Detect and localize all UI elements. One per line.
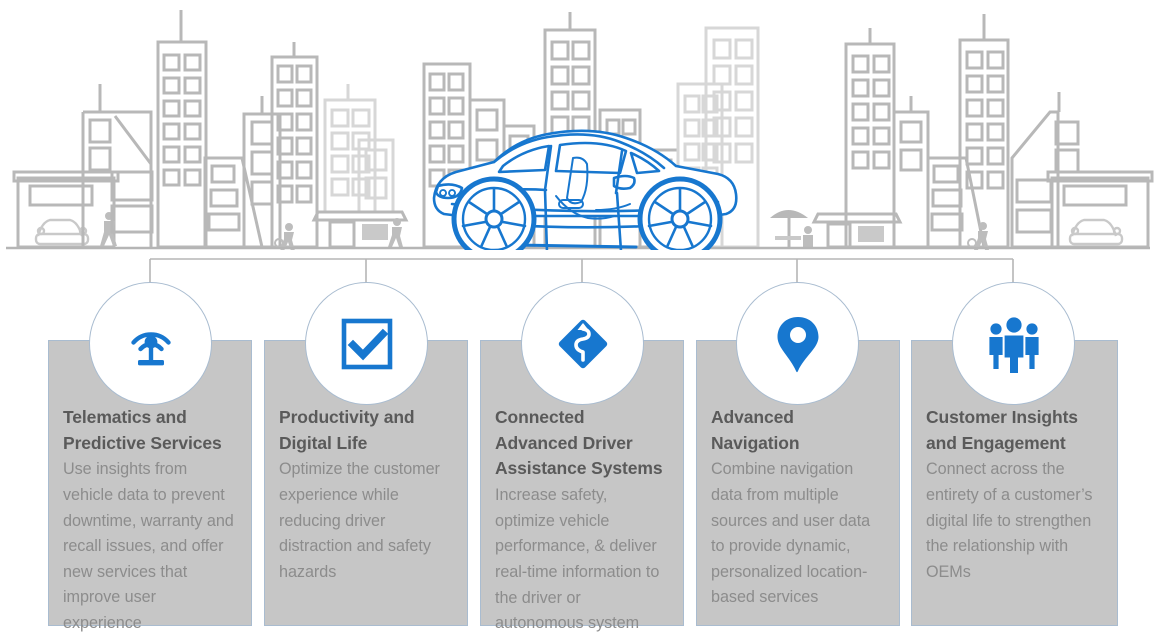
icon-circle-productivity[interactable]: [305, 282, 428, 405]
checkbox-check-icon: [338, 315, 396, 373]
icon-circle-telematics[interactable]: [89, 282, 212, 405]
icon-circle-customer-insights[interactable]: [952, 282, 1075, 405]
infographic-root: Telematics andPredictive Services Use in…: [0, 0, 1156, 644]
broadcast-tower-icon: [120, 313, 182, 375]
icon-circle-adas[interactable]: [521, 282, 644, 405]
three-people-icon: [983, 315, 1045, 373]
map-pin-icon: [772, 313, 824, 375]
winding-road-sign-icon: [552, 313, 614, 375]
pillar-icon-circles: [0, 0, 1156, 644]
icon-circle-navigation[interactable]: [736, 282, 859, 405]
